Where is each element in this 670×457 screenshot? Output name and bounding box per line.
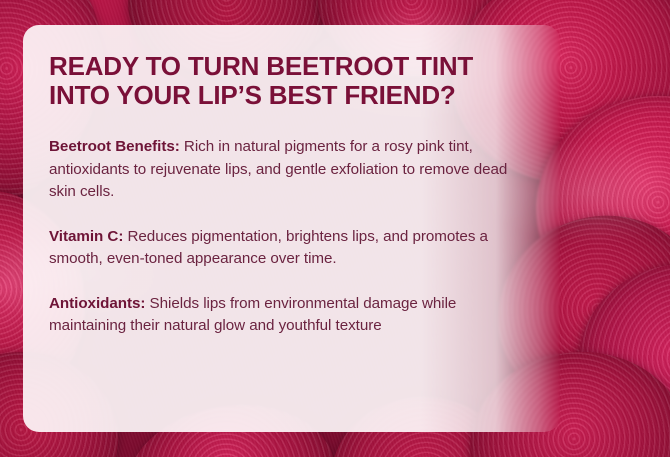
benefit-label-antioxidants: Antioxidants:	[49, 295, 145, 312]
benefit-paragraph-vitamin-c: Vitamin C: Reduces pigmentation, brighte…	[49, 226, 519, 271]
content-block: Ready to turn beetroot tint into your li…	[49, 52, 519, 338]
benefit-paragraph-antioxidants: Antioxidants: Shields lips from environm…	[49, 293, 519, 338]
page-title: Ready to turn beetroot tint into your li…	[49, 52, 519, 110]
benefit-label-vitamin-c: Vitamin C:	[49, 228, 123, 245]
benefit-paragraph-beetroot: Beetroot Benefits: Rich in natural pigme…	[49, 136, 519, 204]
benefit-label-beetroot: Beetroot Benefits:	[49, 138, 180, 155]
infographic-card: Ready to turn beetroot tint into your li…	[0, 0, 670, 457]
